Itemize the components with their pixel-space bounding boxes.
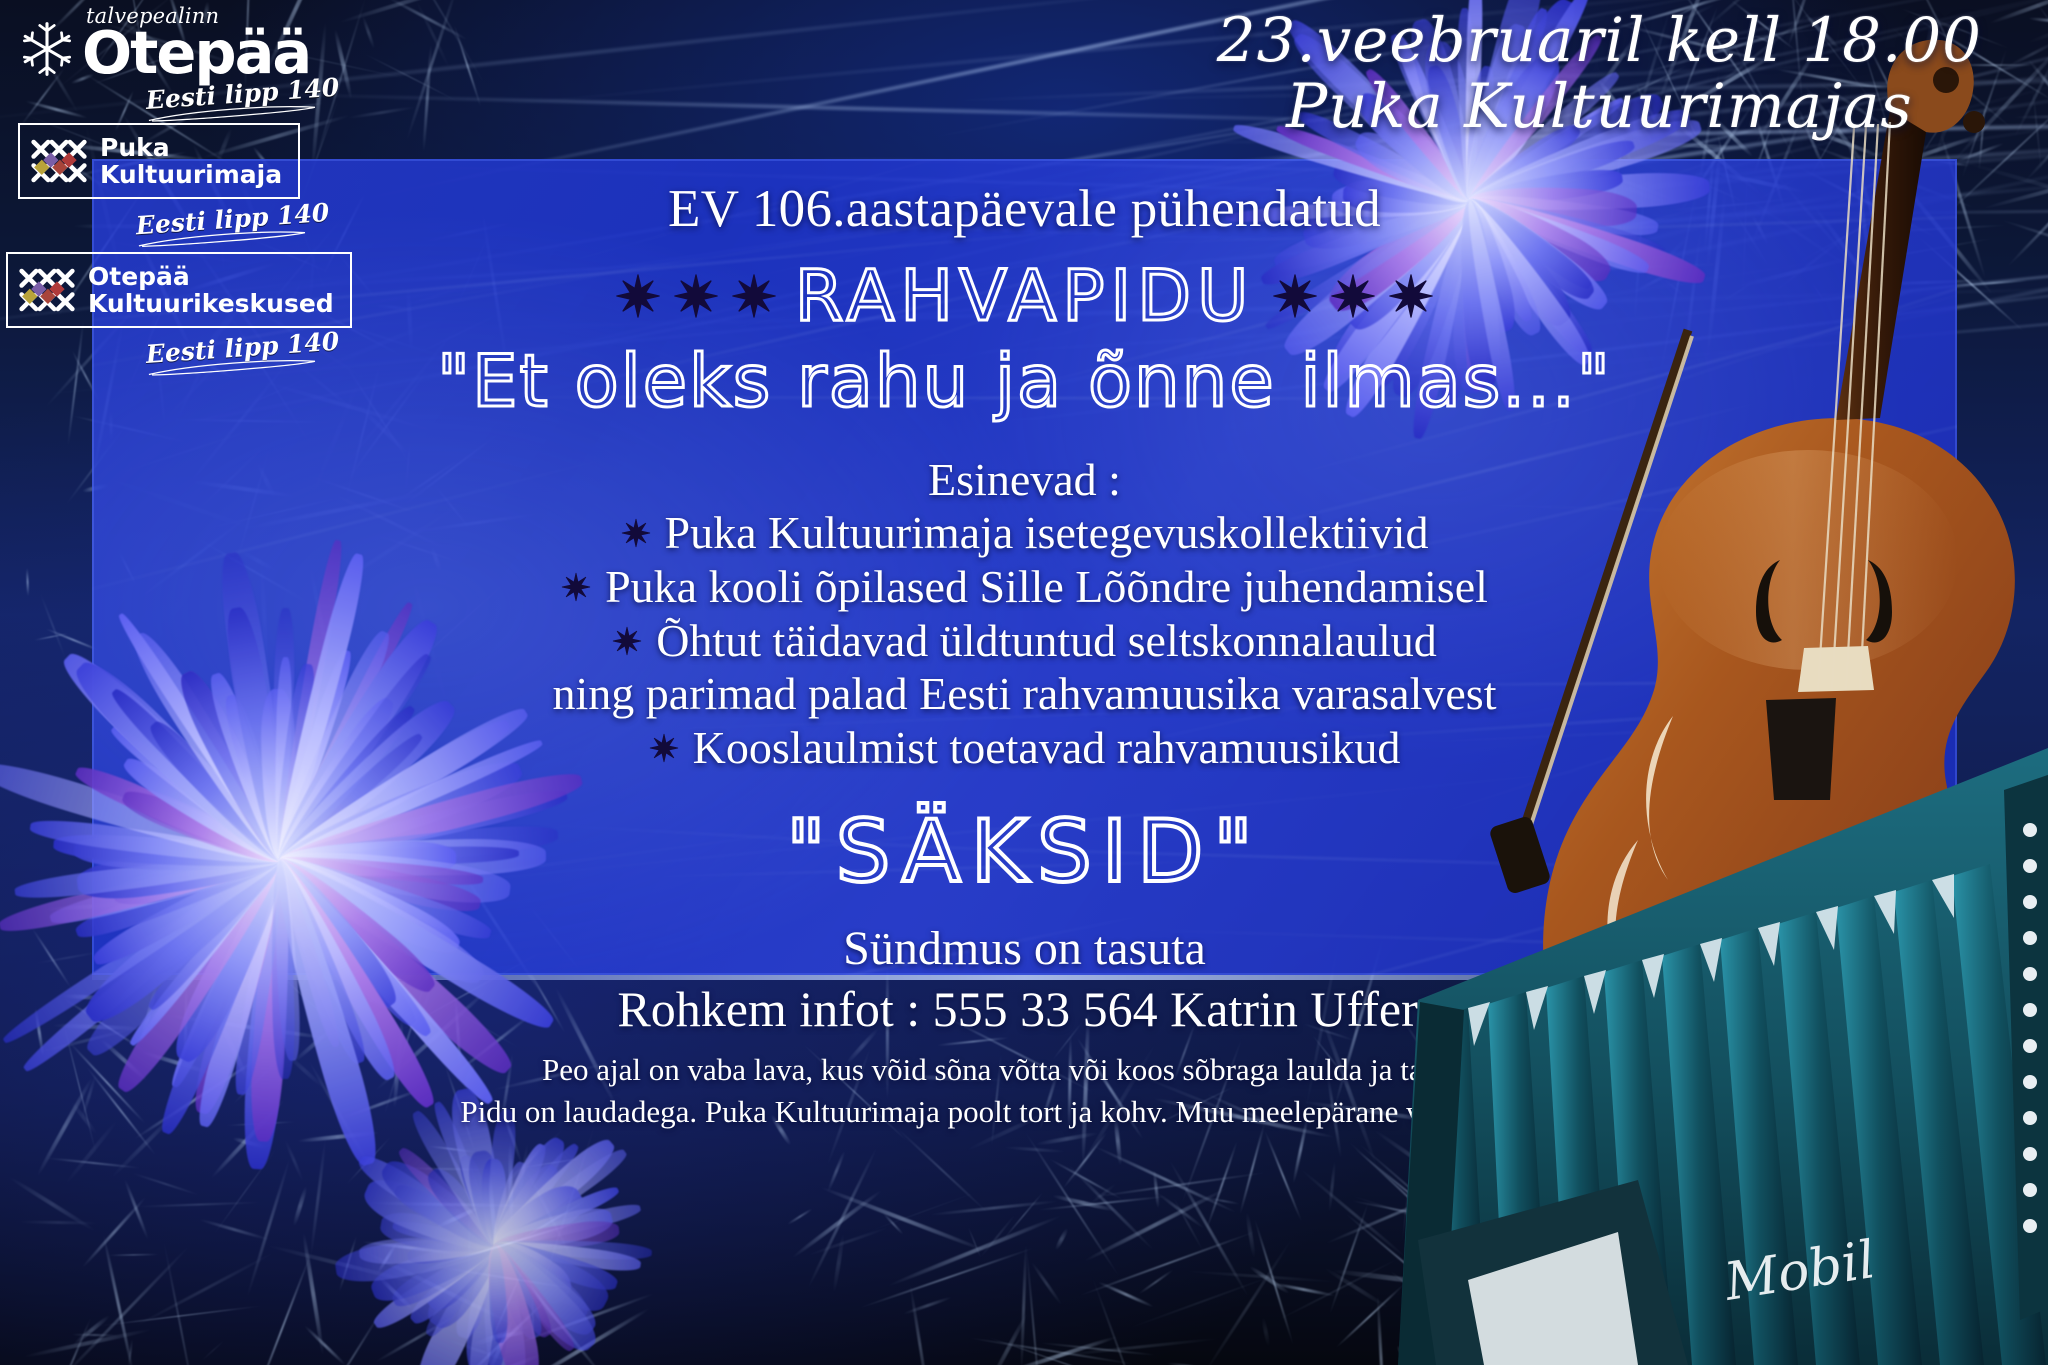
fineprint-line-1: Peo ajal on vaba lava, kus võid sõna võt… [92,1050,1957,1090]
eight-pointed-star-icon [649,733,679,763]
eight-pointed-star-icon [1330,273,1376,319]
eight-pointed-star-icon [612,626,642,656]
eight-pointed-star-icon [1272,273,1318,319]
eight-pointed-star-icon [731,273,777,319]
eight-pointed-star-icon [673,273,719,319]
eight-pointed-star-icon [1388,273,1434,319]
snowflake-icon [18,20,76,78]
performer-label: Puka Kultuurimaja isetegevuskollektiivid [665,506,1429,560]
star-bullet [612,626,642,656]
dedication-line: EV 106.aastapäevale pühendatud [92,179,1957,239]
performer-item: Õhtut täidavad üldtuntud seltskonnalaulu… [92,614,1957,668]
event-poster: Mobil [0,0,2048,1365]
performer-item: Kooslaulmist toetavad rahvamuusikud [92,721,1957,775]
cornflower-decoration-bottom [330,1105,660,1365]
free-entry-note: Sündmus on tasuta [92,921,1957,976]
performer-item: ning parimad palad Eesti rahvamuusika va… [92,667,1957,721]
star-group-left [615,273,777,319]
otepaa-name: Otepää [82,23,310,82]
event-date-time: 23.veebruaril kell 18.00 [1217,10,1982,72]
performers-list: Puka Kultuurimaja isetegevuskollektiivid… [92,506,1957,775]
otepaa-logo: talvepealinn Otepää [18,6,318,82]
poster-content: EV 106.aastapäevale pühendatud RAHVAPIDU… [92,159,1957,975]
eesti-lipp-140-kultuurikeskused: Eesti lipp 140 [145,328,319,377]
estonian-diamond-pattern-icon [18,267,76,313]
event-datetime-header: 23.veebruaril kell 18.00 Puka Kultuurima… [1217,10,1982,138]
eesti-lipp-140-puka: Eesti lipp 140 [135,199,319,249]
otepaa-kultuurikeskused-label: Otepää Kultuurikeskused [88,263,334,317]
contact-info: Rohkem infot : 555 33 564 Katrin Uffert [92,980,1957,1038]
performer-label: ning parimad palad Eesti rahvamuusika va… [553,667,1497,721]
star-group-right [1272,273,1434,319]
star-bullet [561,572,591,602]
star-bullet [649,733,679,763]
eight-pointed-star-icon [621,518,651,548]
fineprint-line-2: Pidu on laudadega. Puka Kultuurimaja poo… [92,1092,1957,1132]
estonian-diamond-pattern-icon [30,138,88,184]
performer-label: Õhtut täidavad üldtuntud seltskonnalaulu… [656,614,1437,668]
event-quote: "Et oleks rahu ja õnne ilmas..." [92,345,1957,417]
performers-heading: Esinevad : [92,453,1957,506]
otepaa-wordmark: talvepealinn Otepää [82,6,310,82]
event-title: RAHVAPIDU [795,261,1255,331]
performer-item: Puka kooli õpilased Sille Lõõndre juhend… [92,560,1957,614]
eight-pointed-star-icon [561,572,591,602]
performer-label: Puka kooli õpilased Sille Lõõndre juhend… [605,560,1488,614]
star-bullet [621,518,651,548]
logo-stack: talvepealinn Otepää Eesti lipp 140 [18,6,318,371]
puka-kultuurimaja-logo: Puka Kultuurimaja [18,123,300,199]
performer-item: Puka Kultuurimaja isetegevuskollektiivid [92,506,1957,560]
eight-pointed-star-icon [615,273,661,319]
puka-kultuurimaja-label: Puka Kultuurimaja [100,134,282,188]
event-title-row: RAHVAPIDU [92,261,1957,331]
performer-label: Kooslaulmist toetavad rahvamuusikud [693,721,1401,775]
band-name: "SÄKSID" [92,809,1957,895]
event-venue: Puka Kultuurimajas [1217,76,1982,138]
otepaa-kultuurikeskused-logo: Otepää Kultuurikeskused [6,252,352,328]
